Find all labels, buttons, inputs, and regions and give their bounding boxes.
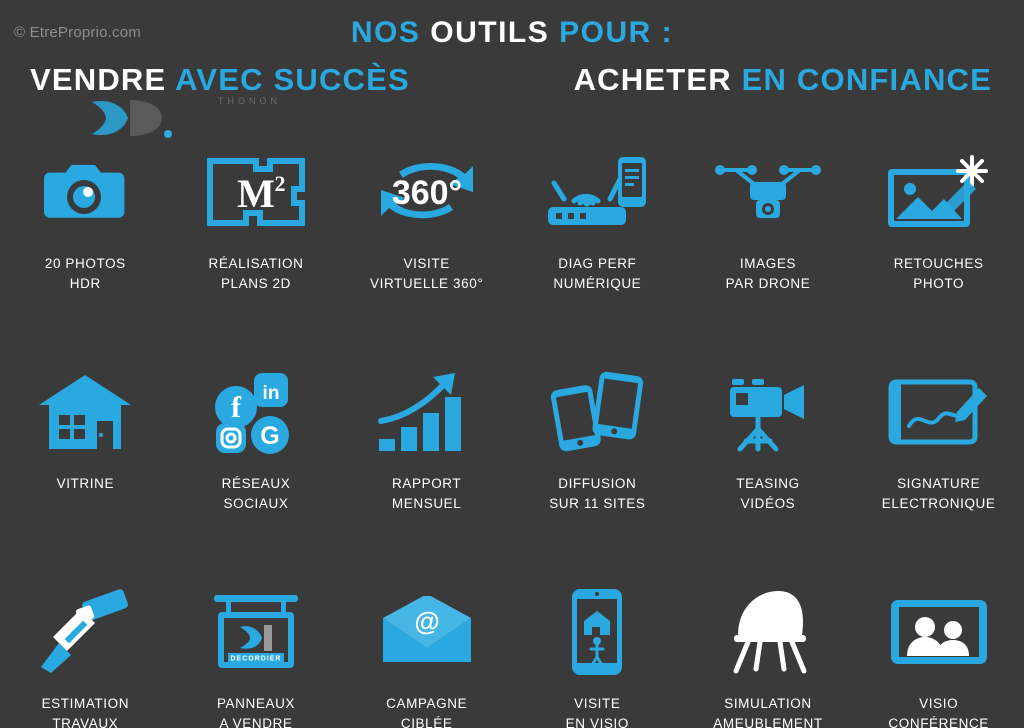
tool-card[interactable]: DECORDIER PANNEAUX A VENDRE — [171, 576, 342, 728]
tool-label: ESTIMATION TRAVAUX — [42, 694, 130, 728]
tool-card[interactable]: VISITE EN VISIO — [512, 576, 683, 728]
tool-label: IMAGES PAR DRONE — [726, 254, 811, 294]
tool-card[interactable]: @ CAMPAGNE CIBLÉE — [341, 576, 512, 728]
tool-card[interactable]: 20 PHOTOS HDR — [0, 136, 171, 356]
tool-label: SIGNATURE ELECTRONIQUE — [882, 474, 996, 514]
svg-text:M: M — [237, 171, 275, 216]
subtitle-left-blue: AVEC SUCCÈS — [175, 62, 410, 97]
tool-card[interactable]: VITRINE — [0, 356, 171, 576]
logo-city: THONON — [218, 96, 281, 106]
house-window-icon — [35, 362, 135, 462]
svg-text:G: G — [260, 422, 279, 450]
headline-part-1: NOS — [351, 16, 430, 49]
for-sale-sign-icon: DECORDIER — [204, 582, 308, 682]
drone-icon — [706, 142, 830, 242]
headline-part-2: OUTILS — [430, 16, 559, 49]
tool-card[interactable]: IMAGES PAR DRONE — [683, 136, 854, 356]
tool-card[interactable]: DIFFUSION SUR 11 SITES — [512, 356, 683, 576]
tool-card[interactable]: SIGNATURE ELECTRONIQUE — [853, 356, 1024, 576]
tool-label: RETOUCHES PHOTO — [894, 254, 984, 294]
tool-label: RÉALISATION PLANS 2D — [209, 254, 304, 294]
poster-root: © EtreProprio.com NOS OUTILS POUR : VEND… — [0, 0, 1024, 728]
tool-card[interactable]: VISIO CONFÉRENCE — [853, 576, 1024, 728]
floorplan-m2-icon: M 2 — [204, 142, 308, 242]
tool-label: VISIO CONFÉRENCE — [888, 694, 989, 728]
tablet-people-icon — [887, 582, 991, 682]
bar-chart-arrow-icon — [375, 362, 479, 462]
email-at-icon: @ — [377, 582, 477, 682]
tool-label: DIFFUSION SUR 11 SITES — [549, 474, 645, 514]
camera-icon — [44, 142, 126, 242]
tool-label: DIAG PERF NUMÉRIQUE — [553, 254, 641, 294]
subtitle-right: ACHETER EN CONFIANCE — [574, 62, 992, 98]
headline-part-3: POUR : — [559, 16, 673, 49]
tool-label: CAMPAGNE CIBLÉE — [386, 694, 467, 728]
tool-label: VISITE VIRTUELLE 360° — [370, 254, 483, 294]
tool-card[interactable]: RETOUCHES PHOTO — [853, 136, 1024, 356]
svg-text:@: @ — [414, 606, 439, 636]
tool-card[interactable]: SIMULATION AMEUBLEMENT — [683, 576, 854, 728]
svg-text:360°: 360° — [391, 174, 461, 212]
paint-roller-icon — [37, 582, 133, 682]
signature-pad-icon — [887, 362, 991, 462]
tool-label: PANNEAUX A VENDRE — [217, 694, 295, 728]
svg-text:f: f — [231, 391, 242, 424]
tool-label: VITRINE — [57, 474, 114, 494]
tool-label: RAPPORT MENSUEL — [392, 474, 461, 514]
tool-card[interactable]: ESTIMATION TRAVAUX — [0, 576, 171, 728]
video-camera-icon — [718, 362, 818, 462]
tool-card[interactable]: in f G RÉSEAUX SOCIAUX — [171, 356, 342, 576]
tool-label: TEASING VIDÉOS — [736, 474, 799, 514]
tool-label: 20 PHOTOS HDR — [45, 254, 126, 294]
tablets-icon — [547, 362, 647, 462]
tool-card[interactable]: DIAG PERF NUMÉRIQUE — [512, 136, 683, 356]
tool-card[interactable]: M 2 RÉALISATION PLANS 2D — [171, 136, 342, 356]
chair-icon — [720, 582, 816, 682]
subtitle-right-white: ACHETER — [574, 62, 742, 97]
tool-card[interactable]: TEASING VIDÉOS — [683, 356, 854, 576]
360-arrows-icon: 360° — [369, 142, 485, 242]
photo-retouch-icon — [884, 142, 994, 242]
tool-label: SIMULATION AMEUBLEMENT — [713, 694, 822, 728]
tool-label: VISITE EN VISIO — [566, 694, 629, 728]
page-title: NOS OUTILS POUR : — [0, 16, 1024, 50]
tool-card[interactable]: RAPPORT MENSUEL — [341, 356, 512, 576]
router-phone-icon — [544, 142, 650, 242]
tool-card[interactable]: 360° VISITE VIRTUELLE 360° — [341, 136, 512, 356]
tools-grid: 20 PHOTOS HDR M 2 RÉALISATION PLANS 2D 3… — [0, 136, 1024, 728]
subtitle-right-blue: EN CONFIANCE — [742, 62, 992, 97]
social-networks-icon: in f G — [208, 362, 304, 462]
phone-visio-icon — [564, 582, 630, 682]
svg-text:2: 2 — [274, 171, 285, 196]
sign-text: DECORDIER — [230, 656, 281, 663]
tool-label: RÉSEAUX SOCIAUX — [222, 474, 291, 514]
svg-text:in: in — [263, 383, 280, 404]
